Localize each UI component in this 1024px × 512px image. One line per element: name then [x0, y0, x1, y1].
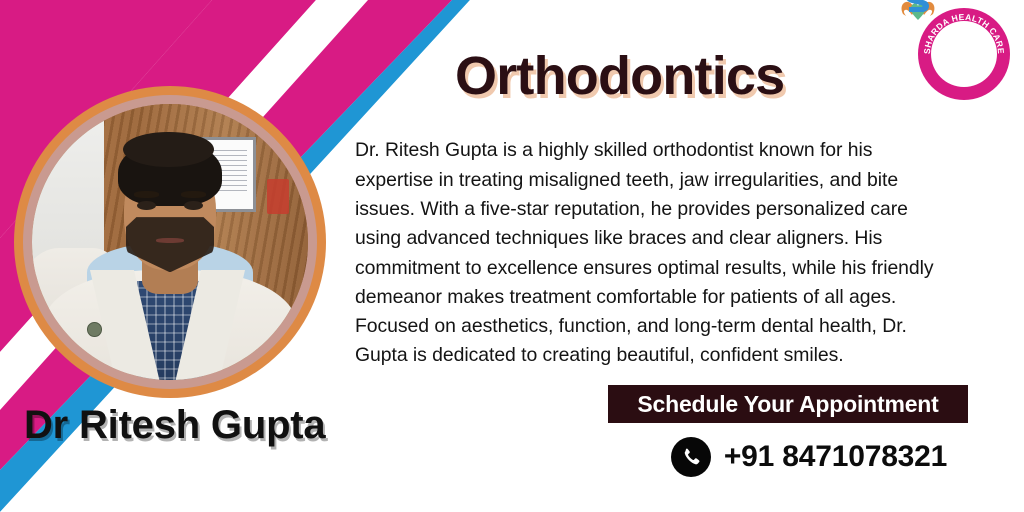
poster-canvas: Dr Ritesh Gupta SHARDA HEALTH CARE GORAK…: [0, 0, 1024, 512]
page-title: Orthodontics: [455, 45, 784, 107]
svg-text:GORAKHPUR: GORAKHPUR: [937, 68, 990, 87]
clinic-logo: SHARDA HEALTH CARE GORAKHPUR: [918, 8, 1010, 100]
phone-contact[interactable]: +91 8471078321: [650, 435, 968, 479]
portrait-photo: [32, 104, 308, 380]
phone-icon: [671, 437, 711, 477]
phone-number: +91 8471078321: [724, 440, 947, 474]
schedule-appointment-button[interactable]: Schedule Your Appointment: [608, 385, 968, 423]
description-text: Dr. Ritesh Gupta is a highly skilled ort…: [355, 136, 947, 370]
doctor-portrait: [14, 86, 326, 398]
logo-monogram-hands-icon: [895, 0, 941, 28]
schedule-appointment-label: Schedule Your Appointment: [637, 391, 938, 418]
doctor-name: Dr Ritesh Gupta: [24, 403, 325, 448]
portrait-inner-ring: [23, 95, 317, 389]
logo-bottom-text: GORAKHPUR: [937, 68, 990, 87]
